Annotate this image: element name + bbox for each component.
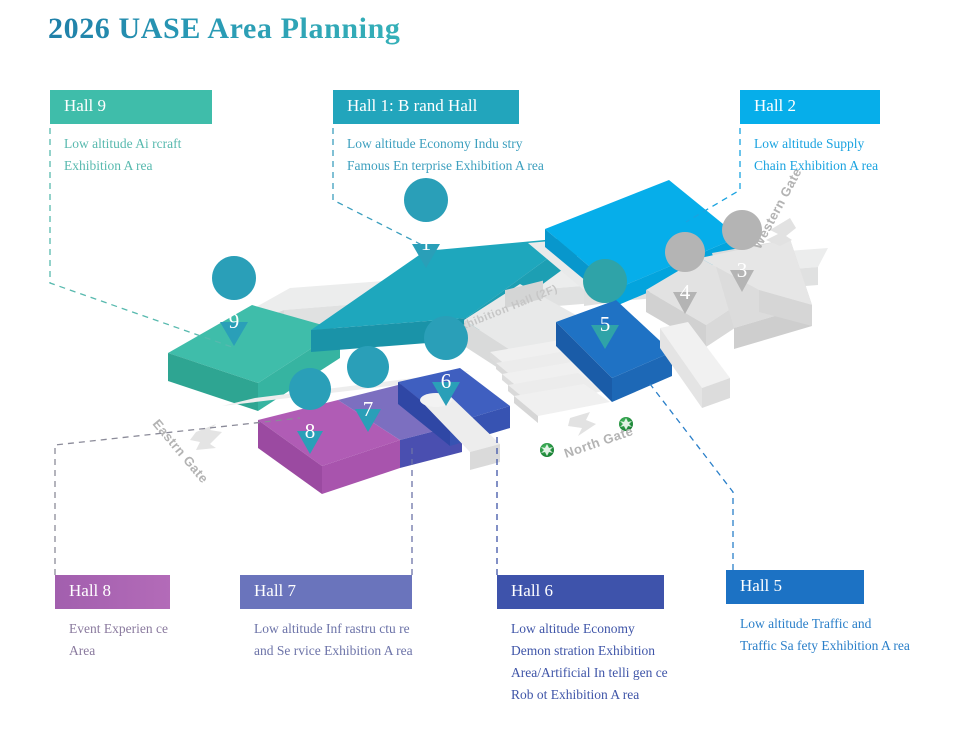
callout-hall-8-title: Hall 8 (55, 575, 170, 609)
callout-hall-8-description: Event Experien ce Area (55, 609, 249, 663)
callout-hall-2-description: Low altitude Supply Chain Exhibition A r… (740, 124, 944, 178)
north-gate-arrow-icon (568, 412, 596, 436)
callout-hall-1[interactable]: Hall 1: B rand Hall Low altitude Economy… (333, 90, 519, 177)
callout-hall-9-description: Low altitude Ai rcraft Exhibition A rea (50, 124, 212, 178)
callout-hall-7-description: Low altitude Inf rastru ctu re and Se rv… (240, 609, 484, 663)
north-gate-label: North Gate (562, 423, 635, 461)
eastern-gate-arrow-icon (190, 424, 222, 450)
map-pin-3-label: 3 (737, 258, 748, 282)
map-pin-1-label: 1 (421, 231, 432, 255)
callout-hall-6-description: Low altitude Economy Demon stration Exhi… (497, 609, 721, 707)
tree-icon (540, 443, 554, 457)
callout-hall-6-title: Hall 6 (497, 575, 664, 609)
callout-hall-9-title: Hall 9 (50, 90, 212, 124)
map-pin-8-label: 8 (305, 419, 316, 443)
callout-hall-5-description: Low altitude Traffic and Traffic Sa fety… (726, 604, 970, 658)
connector-hall-5 (650, 384, 733, 570)
callout-hall-2-title: Hall 2 (740, 90, 880, 124)
callout-hall-5[interactable]: Hall 5 Low altitude Traffic and Traffic … (726, 570, 864, 657)
map-pin-5-label: 5 (600, 312, 611, 336)
eastern-gate-label: Eastrn Gate (150, 416, 212, 486)
callout-hall-1-title: Hall 1: B rand Hall (333, 90, 519, 124)
map-pin-7-label: 7 (363, 397, 374, 421)
callout-hall-7-title: Hall 7 (240, 575, 412, 609)
map-pin-9-label: 9 (229, 309, 240, 333)
callout-hall-5-title: Hall 5 (726, 570, 864, 604)
map-pin-6-label: 6 (441, 369, 452, 393)
callout-hall-7[interactable]: Hall 7 Low altitude Inf rastru ctu re an… (240, 575, 412, 662)
callout-hall-1-description: Low altitude Economy Indu stry Famous En… (333, 124, 647, 178)
callout-hall-6[interactable]: Hall 6 Low altitude Economy Demon strati… (497, 575, 664, 707)
slide-canvas: 2026 UASE Area Planning (0, 0, 972, 729)
callout-hall-9[interactable]: Hall 9 Low altitude Ai rcraft Exhibition… (50, 90, 212, 177)
callout-hall-8[interactable]: Hall 8 Event Experien ce Area (55, 575, 170, 662)
callout-hall-2[interactable]: Hall 2 Low altitude Supply Chain Exhibit… (740, 90, 880, 177)
map-pin-4-label: 4 (680, 280, 691, 304)
